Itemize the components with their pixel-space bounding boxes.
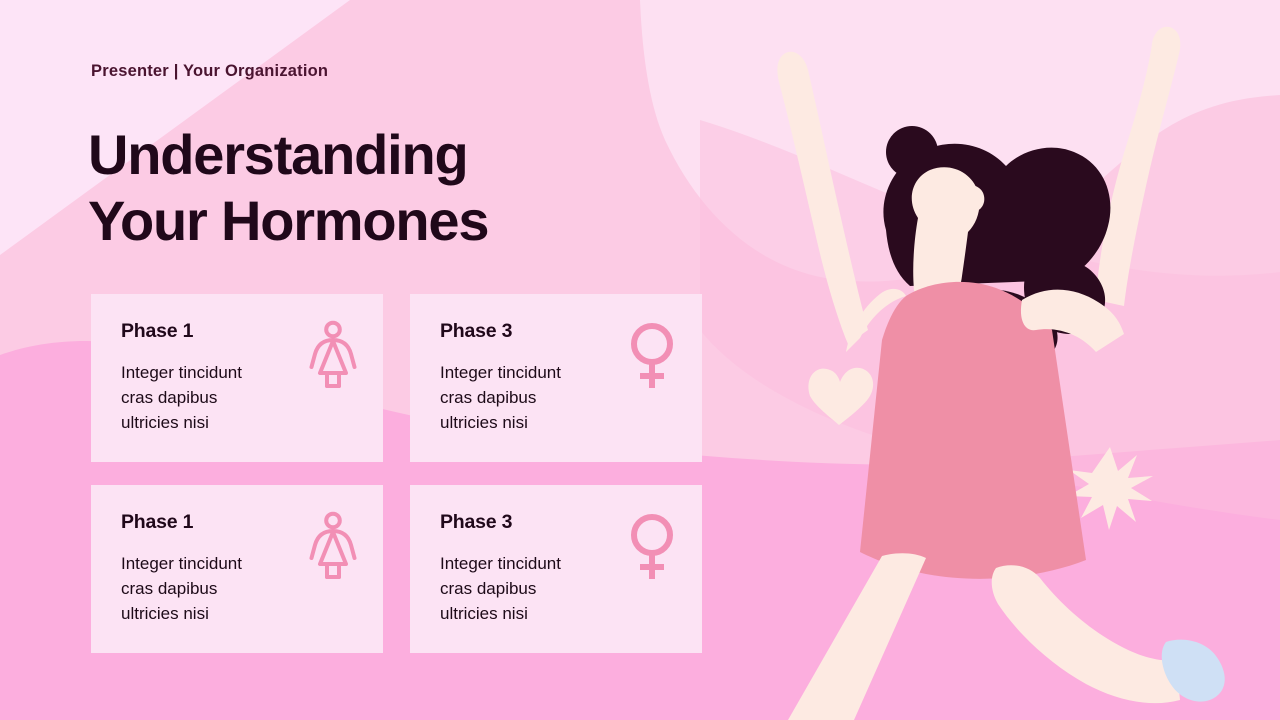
right-arm	[1096, 27, 1180, 306]
phase-card[interactable]: Phase 3 Integer tincidunt cras dapibus u…	[410, 485, 702, 653]
slide-canvas: Presenter | Your Organization Understand…	[0, 0, 1280, 720]
female-venus-symbol-icon	[624, 511, 680, 583]
page-title: Understanding Your Hormones	[88, 122, 488, 254]
woman-figure-icon	[305, 511, 361, 583]
heart-decoration	[808, 368, 873, 425]
card-body: Integer tincidunt cras dapibus ultricies…	[121, 361, 301, 436]
woman-figure-icon	[305, 320, 361, 392]
phase-card[interactable]: Phase 1 Integer tincidunt cras dapibus u…	[91, 294, 383, 462]
phase-card[interactable]: Phase 3 Integer tincidunt cras dapibus u…	[410, 294, 702, 462]
back-leg	[788, 553, 926, 720]
card-body: Integer tincidunt cras dapibus ultricies…	[440, 361, 620, 436]
female-venus-symbol-icon	[624, 320, 680, 392]
phase-card[interactable]: Phase 1 Integer tincidunt cras dapibus u…	[91, 485, 383, 653]
front-leg	[992, 565, 1180, 703]
sparkle-decoration	[1068, 447, 1153, 530]
presenter-line: Presenter | Your Organization	[91, 62, 328, 81]
card-body: Integer tincidunt cras dapibus ultricies…	[121, 552, 301, 627]
jumping-woman-illustration	[700, 0, 1280, 720]
left-arm	[777, 52, 868, 344]
card-body: Integer tincidunt cras dapibus ultricies…	[440, 552, 620, 627]
